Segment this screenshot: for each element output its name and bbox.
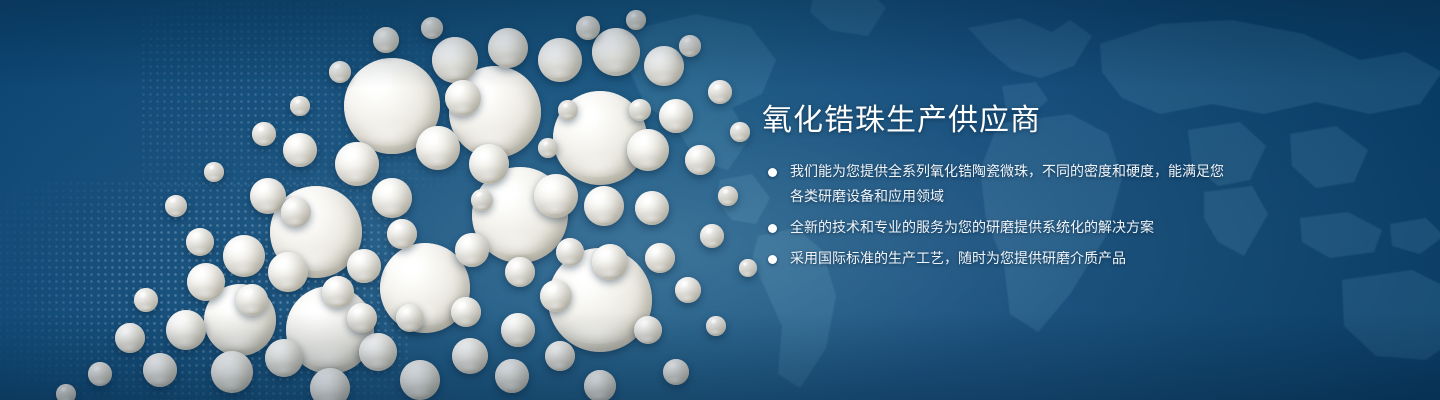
- list-item-label: 采用国际标准的生产工艺，随时为您提供研磨介质产品: [790, 251, 1126, 267]
- list-item-label: 我们能为您提供全系列氧化锆陶瓷微珠，不同的密度和硬度，能满足您各类研磨设备和应用…: [790, 164, 1224, 205]
- list-item: 全新的技术和专业的服务为您的研磨提供系统化的解决方案: [762, 216, 1232, 241]
- feature-list: 我们能为您提供全系列氧化锆陶瓷微珠，不同的密度和硬度，能满足您各类研磨设备和应用…: [762, 160, 1232, 272]
- bullet-dot-icon: [768, 168, 777, 177]
- bullet-dot-icon: [768, 224, 777, 233]
- hero-banner: 氧化锆珠生产供应商 我们能为您提供全系列氧化锆陶瓷微珠，不同的密度和硬度，能满足…: [0, 0, 1440, 400]
- banner-copy-block: 氧化锆珠生产供应商 我们能为您提供全系列氧化锆陶瓷微珠，不同的密度和硬度，能满足…: [762, 104, 1232, 272]
- bullet-dot-icon: [768, 255, 777, 264]
- page-title: 氧化锆珠生产供应商: [762, 104, 1232, 138]
- list-item: 我们能为您提供全系列氧化锆陶瓷微珠，不同的密度和硬度，能满足您各类研磨设备和应用…: [762, 160, 1232, 210]
- list-item-label: 全新的技术和专业的服务为您的研磨提供系统化的解决方案: [790, 220, 1154, 236]
- list-item: 采用国际标准的生产工艺，随时为您提供研磨介质产品: [762, 247, 1232, 272]
